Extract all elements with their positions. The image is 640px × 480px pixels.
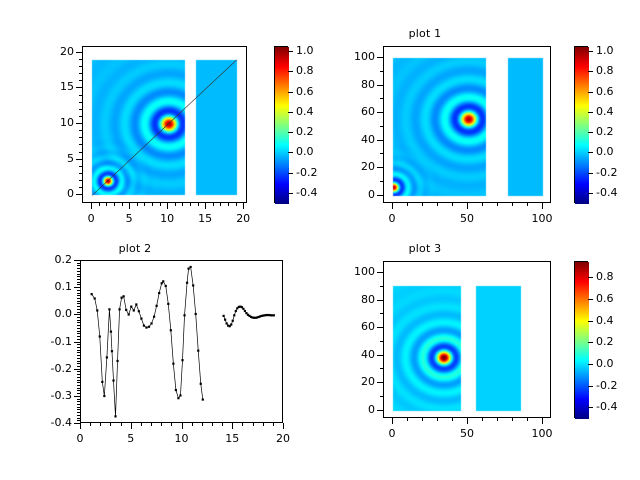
data-point-marker (128, 313, 130, 315)
panel-bottom-left: plot 2 051015200.20.10.0-0.1-0.2-0.3-0.4 (0, 240, 320, 480)
y-tick-label: -0.1 (28, 335, 72, 348)
x-minor-tick (213, 203, 214, 206)
x-minor-tick (114, 203, 115, 206)
y-minor-tick (79, 102, 82, 103)
y-minor-tick (77, 374, 80, 375)
colorbar-tick-label: 0.2 (296, 125, 314, 138)
y-tick-label: 100 (333, 265, 375, 278)
x-tick-label: 5 (111, 432, 151, 445)
y-minor-tick (79, 73, 82, 74)
data-point-marker (114, 415, 116, 417)
y-tick-label: 80 (333, 78, 375, 91)
x-minor-tick (392, 418, 393, 421)
y-minor-tick (380, 181, 383, 182)
data-point-marker (103, 395, 105, 397)
y-minor-tick (77, 293, 80, 294)
y-minor-tick (380, 85, 383, 86)
y-minor-tick (77, 322, 80, 323)
y-minor-tick (77, 377, 80, 378)
x-minor-tick (182, 423, 183, 426)
data-point-marker (133, 309, 135, 311)
x-tick-label: 50 (447, 427, 487, 440)
y-minor-tick (77, 390, 80, 391)
y-minor-tick (77, 363, 80, 364)
colorbar-tick-label: 0.2 (596, 125, 614, 138)
x-minor-tick (467, 418, 468, 421)
y-minor-tick (77, 260, 80, 261)
x-tick-label: 0 (372, 212, 412, 225)
y-minor-tick (77, 409, 80, 410)
data-point-marker (161, 282, 163, 284)
data-point-marker (162, 280, 164, 282)
data-point-marker (116, 360, 118, 362)
y-minor-tick (77, 352, 80, 353)
y-tick-label: 0.0 (28, 307, 72, 320)
y-minor-tick (77, 342, 80, 343)
x-minor-tick (100, 423, 101, 426)
x-tick-label: 0 (372, 427, 412, 440)
y-minor-tick (77, 265, 80, 266)
y-minor-tick (77, 287, 80, 288)
y-minor-tick (380, 112, 383, 113)
data-point-marker (244, 310, 246, 312)
axes-top-left (82, 46, 247, 203)
y-minor-tick (79, 187, 82, 188)
y-minor-tick (77, 306, 80, 307)
y-minor-tick (77, 284, 80, 285)
colorbar-tick-label: 0.4 (596, 314, 614, 327)
colorbar-tick (288, 112, 293, 113)
y-minor-tick (77, 339, 80, 340)
y-tick-label: 0 (333, 403, 375, 416)
axes-top-right (383, 46, 551, 203)
x-minor-tick (175, 203, 176, 206)
y-tick-label: 60 (333, 105, 375, 118)
x-minor-tick (91, 203, 92, 206)
line-path (92, 267, 203, 416)
colorbar-tick (588, 112, 593, 113)
data-point-marker (186, 282, 188, 284)
y-tick-label: 80 (333, 293, 375, 306)
y-minor-tick (79, 130, 82, 131)
x-minor-tick (121, 423, 122, 426)
data-point-marker (123, 295, 125, 297)
x-minor-tick (205, 203, 206, 206)
y-minor-tick (77, 407, 80, 408)
y-minor-tick (77, 279, 80, 280)
x-tick-label: 50 (447, 212, 487, 225)
data-point-marker (153, 316, 155, 318)
x-minor-tick (228, 203, 229, 206)
line-series-bottom-left (81, 261, 283, 423)
x-minor-tick (122, 203, 123, 206)
x-tick-label: 100 (522, 212, 562, 225)
y-minor-tick (77, 366, 80, 367)
colorbar-tick-label: -0.4 (596, 186, 617, 199)
x-minor-tick (527, 203, 528, 206)
x-minor-tick (497, 203, 498, 206)
x-minor-tick (167, 203, 168, 206)
y-minor-tick (79, 159, 82, 160)
y-minor-tick (77, 274, 80, 275)
x-minor-tick (106, 203, 107, 206)
panel-bottom-right-title: plot 3 (265, 242, 585, 255)
x-minor-tick (497, 418, 498, 421)
x-minor-tick (512, 418, 513, 421)
x-minor-tick (110, 423, 111, 426)
y-minor-tick (380, 98, 383, 99)
x-minor-tick (542, 203, 543, 206)
colorbar-tick (588, 364, 593, 365)
colorbar-tick-label: -0.4 (596, 400, 617, 413)
data-point-marker (143, 325, 145, 327)
x-minor-tick (202, 423, 203, 426)
y-minor-tick (77, 415, 80, 416)
y-minor-tick (77, 317, 80, 318)
x-tick-label: 100 (522, 427, 562, 440)
x-tick-label: 0 (71, 212, 111, 225)
data-point-marker (172, 363, 174, 365)
x-minor-tick (171, 423, 172, 426)
y-minor-tick (79, 123, 82, 124)
y-minor-tick (77, 382, 80, 383)
colorbar-tick (288, 71, 293, 72)
data-point-marker (94, 297, 96, 299)
y-minor-tick (380, 327, 383, 328)
data-point-marker (150, 322, 152, 324)
y-minor-tick (380, 355, 383, 356)
data-point-marker (148, 326, 150, 328)
colorbar-tick (588, 173, 593, 174)
colorbar-tick-label: 0.6 (596, 292, 614, 305)
y-minor-tick (79, 137, 82, 138)
y-minor-tick (77, 350, 80, 351)
data-point-marker (175, 389, 177, 391)
colorbar-tick-label: 0.4 (296, 105, 314, 118)
x-minor-tick (422, 203, 423, 206)
colorbar-tick (288, 193, 293, 194)
y-minor-tick (77, 276, 80, 277)
y-minor-tick (380, 286, 383, 287)
y-minor-tick (79, 116, 82, 117)
data-point-marker (145, 326, 147, 328)
x-minor-tick (151, 423, 152, 426)
x-tick-label: 10 (147, 212, 187, 225)
x-tick-label: 15 (212, 432, 252, 445)
x-minor-tick (243, 203, 244, 206)
y-minor-tick (77, 333, 80, 334)
x-tick-label: 10 (162, 432, 202, 445)
x-minor-tick (190, 203, 191, 206)
data-point-marker (108, 308, 110, 310)
colorbar-tick (288, 51, 293, 52)
colorbar-tick (588, 342, 593, 343)
x-minor-tick (242, 423, 243, 426)
data-point-marker (101, 381, 103, 383)
x-minor-tick (407, 418, 408, 421)
y-minor-tick (77, 393, 80, 394)
data-point-marker (232, 320, 234, 322)
data-point-marker (197, 350, 199, 352)
x-minor-tick (141, 423, 142, 426)
x-tick-label: 20 (223, 212, 263, 225)
y-tick-label: 100 (333, 50, 375, 63)
y-tick-label: -0.2 (28, 362, 72, 375)
y-tick-label: 10 (32, 116, 74, 129)
x-minor-tick (90, 423, 91, 426)
axes-bottom-left (80, 260, 283, 423)
data-point-marker (224, 319, 226, 321)
y-minor-tick (380, 368, 383, 369)
y-tick-label: 0.2 (28, 253, 72, 266)
colorbar-tick (588, 193, 593, 194)
colorbar-tick-label: 0.8 (596, 270, 614, 283)
data-point-marker (130, 306, 132, 308)
axes-bottom-right (383, 261, 551, 418)
y-minor-tick (77, 401, 80, 402)
x-minor-tick (129, 203, 130, 206)
y-minor-tick (77, 309, 80, 310)
y-minor-tick (380, 153, 383, 154)
y-minor-tick (77, 361, 80, 362)
data-point-marker (121, 297, 123, 299)
x-tick-label: 15 (185, 212, 225, 225)
x-minor-tick (222, 423, 223, 426)
y-tick-label: 0 (32, 187, 74, 200)
data-point-marker (165, 285, 167, 287)
y-minor-tick (77, 303, 80, 304)
y-minor-tick (79, 95, 82, 96)
y-minor-tick (380, 396, 383, 397)
x-minor-tick (467, 203, 468, 206)
x-minor-tick (182, 203, 183, 206)
x-minor-tick (220, 203, 221, 206)
colorbar-tick-label: -0.4 (296, 186, 317, 199)
y-minor-tick (79, 173, 82, 174)
data-point-marker (192, 284, 194, 286)
x-tick-label: 20 (263, 432, 303, 445)
y-minor-tick (79, 66, 82, 67)
panel-bottom-right: plot 3 050100020406080100 0.80.60.40.20.… (320, 240, 640, 480)
y-minor-tick (77, 263, 80, 264)
colorbar-tick-label: -0.2 (596, 166, 617, 179)
y-minor-tick (79, 52, 82, 53)
x-minor-tick (161, 423, 162, 426)
y-minor-tick (79, 80, 82, 81)
y-minor-tick (77, 420, 80, 421)
y-tick-label: 15 (32, 80, 74, 93)
data-point-marker (195, 313, 197, 315)
y-minor-tick (380, 300, 383, 301)
colorbar-bottom-right (574, 261, 588, 418)
y-minor-tick (77, 320, 80, 321)
data-point-marker (167, 303, 169, 305)
y-tick-label: 20 (32, 45, 74, 58)
colorbar-tick (288, 173, 293, 174)
colorbar-tick (588, 92, 593, 93)
colorbar-tick-label: 0.8 (596, 64, 614, 77)
colorbar-tick (588, 132, 593, 133)
y-minor-tick (380, 382, 383, 383)
data-point-marker (96, 309, 98, 311)
y-minor-tick (77, 328, 80, 329)
colorbar-tick (588, 71, 593, 72)
y-minor-tick (77, 301, 80, 302)
x-minor-tick (99, 203, 100, 206)
y-minor-tick (380, 313, 383, 314)
y-tick-label: 40 (333, 133, 375, 146)
y-minor-tick (77, 369, 80, 370)
colorbar-tick-label: 0.0 (296, 145, 314, 158)
y-minor-tick (77, 336, 80, 337)
colorbar-tick (588, 51, 593, 52)
y-minor-tick (77, 344, 80, 345)
colorbar-tick-label: 0.4 (596, 105, 614, 118)
colorbar-tick-label: -0.2 (596, 379, 617, 392)
x-minor-tick (542, 418, 543, 421)
y-tick-label: 40 (333, 348, 375, 361)
data-point-marker (230, 323, 232, 325)
colorbar-tick (288, 152, 293, 153)
data-point-marker (156, 305, 158, 307)
colorbar-tick-label: 0.0 (596, 145, 614, 158)
y-minor-tick (380, 71, 383, 72)
y-minor-tick (77, 358, 80, 359)
x-minor-tick (283, 423, 284, 426)
data-point-marker (177, 397, 179, 399)
data-point-marker (170, 329, 172, 331)
x-minor-tick (263, 423, 264, 426)
y-tick-label: 5 (32, 152, 74, 165)
y-minor-tick (79, 194, 82, 195)
data-point-marker (226, 322, 228, 324)
y-minor-tick (380, 167, 383, 168)
data-point-marker (106, 356, 108, 358)
data-point-marker (183, 314, 185, 316)
y-minor-tick (380, 341, 383, 342)
y-minor-tick (77, 298, 80, 299)
y-minor-tick (77, 396, 80, 397)
x-minor-tick (452, 418, 453, 421)
data-point-marker (202, 398, 204, 400)
y-minor-tick (79, 180, 82, 181)
x-minor-tick (422, 418, 423, 421)
data-point-marker (190, 266, 192, 268)
data-point-marker (179, 394, 181, 396)
x-minor-tick (80, 423, 81, 426)
x-minor-tick (144, 203, 145, 206)
y-tick-label: -0.3 (28, 389, 72, 402)
x-minor-tick (212, 423, 213, 426)
x-minor-tick (482, 418, 483, 421)
y-minor-tick (77, 290, 80, 291)
figure-canvas: 0510152005101520 1.00.80.60.40.20.0-0.2-… (0, 0, 640, 480)
x-minor-tick (482, 203, 483, 206)
panel-top-right: plot 1 050100020406080100 1.00.80.60.40.… (320, 0, 640, 240)
heatmap-bottom-right (384, 262, 551, 418)
colorbar-tick (588, 152, 593, 153)
y-minor-tick (77, 388, 80, 389)
y-tick-label: 0.1 (28, 280, 72, 293)
x-minor-tick (131, 423, 132, 426)
y-minor-tick (79, 87, 82, 88)
x-minor-tick (392, 203, 393, 206)
y-minor-tick (79, 152, 82, 153)
y-minor-tick (77, 268, 80, 269)
data-point-marker (235, 310, 237, 312)
y-minor-tick (77, 312, 80, 313)
diagonal-line-overlay (83, 47, 247, 203)
data-point-marker (125, 309, 127, 311)
colorbar-tick (288, 92, 293, 93)
x-minor-tick (236, 203, 237, 206)
x-tick-label: 5 (109, 212, 149, 225)
y-minor-tick (79, 109, 82, 110)
data-point-marker (112, 379, 114, 381)
data-point-marker (138, 310, 140, 312)
data-point-marker (118, 308, 120, 310)
y-minor-tick (380, 195, 383, 196)
data-point-marker (181, 359, 183, 361)
y-minor-tick (77, 314, 80, 315)
x-minor-tick (192, 423, 193, 426)
colorbar-tick-label: 1.0 (296, 44, 314, 57)
x-minor-tick (137, 203, 138, 206)
y-minor-tick (77, 325, 80, 326)
x-minor-tick (512, 203, 513, 206)
colorbar-tick-label: 0.8 (296, 64, 314, 77)
y-minor-tick (77, 380, 80, 381)
data-point-marker (200, 383, 202, 385)
data-point-marker (135, 303, 137, 305)
x-tick-label: 0 (60, 432, 100, 445)
y-minor-tick (77, 295, 80, 296)
colorbar-tick-label: 0.2 (596, 335, 614, 348)
y-minor-tick (380, 272, 383, 273)
data-point-marker (187, 268, 189, 270)
heatmap-top-right (384, 47, 551, 203)
y-minor-tick (77, 385, 80, 386)
y-minor-tick (77, 404, 80, 405)
x-minor-tick (232, 423, 233, 426)
y-minor-tick (380, 57, 383, 58)
data-point-marker (233, 314, 235, 316)
colorbar-tick (588, 321, 593, 322)
colorbar-top-right (574, 46, 588, 203)
y-tick-label: 60 (333, 320, 375, 333)
colorbar-tick (588, 299, 593, 300)
y-minor-tick (79, 144, 82, 145)
x-minor-tick (152, 203, 153, 206)
colorbar-tick-label: 0.6 (296, 85, 314, 98)
colorbar-tick (288, 132, 293, 133)
y-tick-label: -0.4 (28, 416, 72, 429)
y-minor-tick (77, 282, 80, 283)
x-minor-tick (527, 418, 528, 421)
y-minor-tick (77, 418, 80, 419)
y-minor-tick (77, 423, 80, 424)
panel-top-right-title: plot 1 (265, 27, 585, 40)
x-minor-tick (452, 203, 453, 206)
x-minor-tick (160, 203, 161, 206)
data-point-marker (111, 350, 113, 352)
y-minor-tick (77, 347, 80, 348)
data-point-marker (223, 315, 225, 317)
y-minor-tick (79, 59, 82, 60)
y-tick-label: 0 (333, 188, 375, 201)
y-minor-tick (380, 126, 383, 127)
x-minor-tick (273, 423, 274, 426)
